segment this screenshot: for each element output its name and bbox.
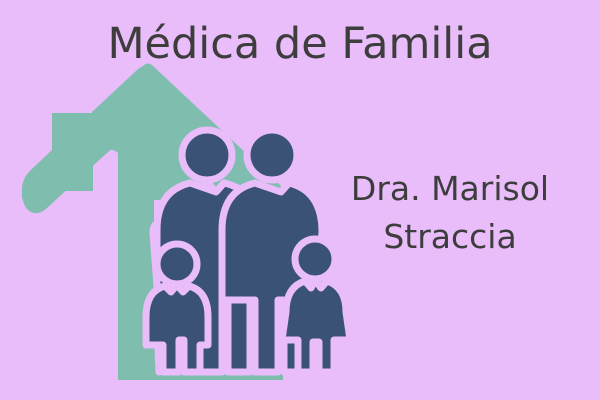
page-title: Médica de Familia	[0, 18, 600, 70]
adult-woman-head	[182, 130, 232, 180]
child-boy-head	[157, 244, 197, 284]
chimney-shape	[52, 113, 93, 191]
flyer-card: Médica de Familia Dra. Marisol Straccia	[0, 0, 600, 400]
doctor-name-line-1: Dra. Marisol	[330, 165, 570, 213]
child-girl-head	[295, 239, 335, 279]
doctor-name-block: Dra. Marisol Straccia	[330, 165, 570, 261]
doctor-name-line-2: Straccia	[330, 213, 570, 261]
adult-man-head	[247, 130, 297, 180]
